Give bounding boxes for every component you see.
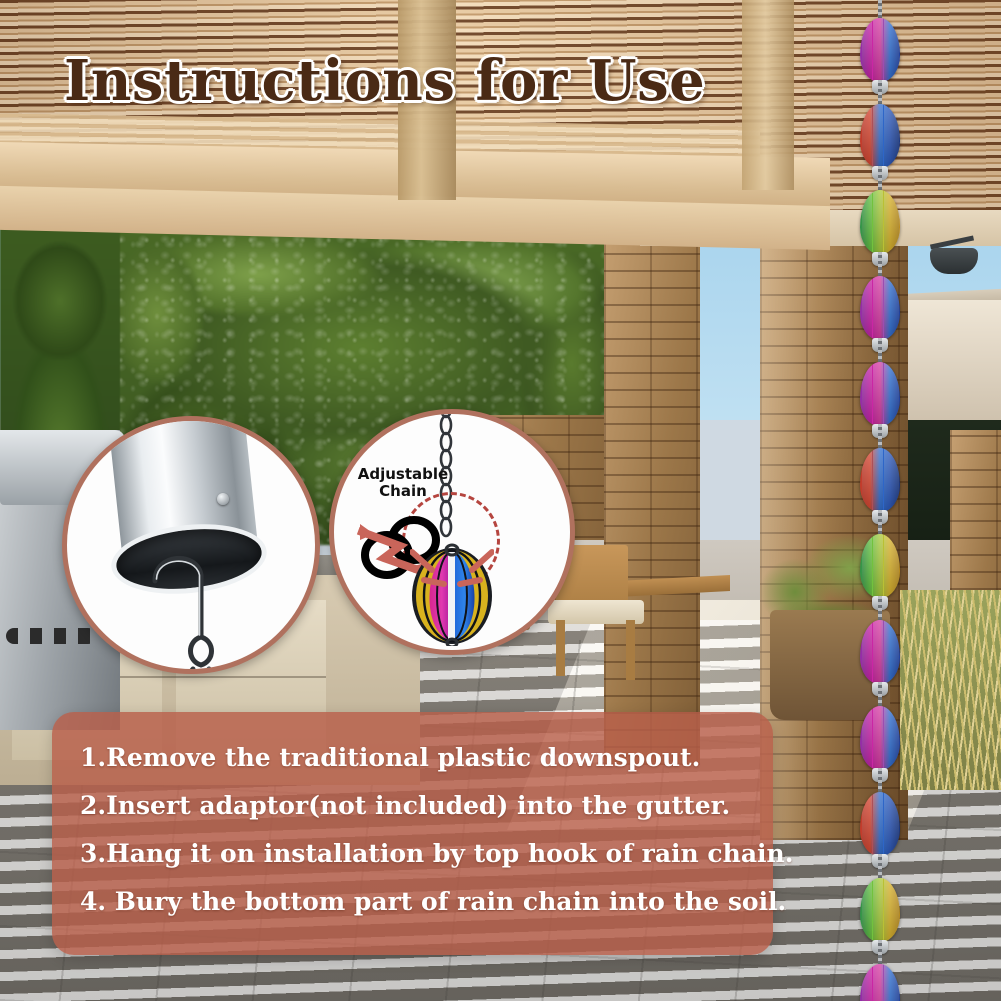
chain-spinner [857, 18, 903, 82]
spinner-rib [878, 706, 883, 770]
spinner-rib [878, 362, 883, 426]
spinner-rib [894, 792, 899, 856]
spinner-rib [862, 964, 867, 1001]
ornamental-grass [900, 590, 1001, 790]
spinner-rib [894, 620, 899, 684]
spinner-rib [878, 190, 883, 254]
spinner-rib [884, 276, 889, 340]
spinner-rib [862, 18, 867, 82]
chain-segment [878, 252, 882, 276]
callout-downspout [62, 416, 320, 674]
spinner-rib [889, 706, 894, 770]
spinner-rib [867, 706, 872, 770]
spinner-rib [878, 534, 883, 598]
spinner-rib [878, 792, 883, 856]
spinner-ball [860, 18, 900, 82]
spinner-rib [889, 104, 894, 168]
spinner-rib [867, 276, 872, 340]
spinner-rib [884, 190, 889, 254]
caption-line-1: Adjustable [342, 466, 464, 483]
spinner-rib [873, 276, 878, 340]
chain-segment [878, 510, 882, 534]
spinner-ball [860, 706, 900, 770]
spinner-rib [884, 534, 889, 598]
caption-line-2: Chain [342, 483, 464, 500]
spinner-rib [884, 792, 889, 856]
spinner-rib [873, 620, 878, 684]
spinner-rib [867, 190, 872, 254]
spinner-rib [884, 964, 889, 1001]
spinner-ball [860, 534, 900, 598]
chain-segment [878, 854, 882, 878]
spinner-rib [862, 362, 867, 426]
chain-spinner [857, 104, 903, 168]
spinner-rib [894, 448, 899, 512]
spinner-rib [867, 534, 872, 598]
spinner-rib [889, 190, 894, 254]
instruction-step: 4. Bury the bottom part of rain chain in… [80, 878, 759, 926]
spinner-rib [889, 792, 894, 856]
spinner-rib [878, 878, 883, 942]
chain-spinner [857, 534, 903, 598]
rain-chain [857, 0, 903, 1001]
spinner-ball [860, 276, 900, 340]
chain-segment [878, 596, 882, 620]
spinner-ball [860, 964, 900, 1001]
spinner-rib [884, 620, 889, 684]
page-title: Instructions for Use [64, 48, 705, 114]
spinner-rib [867, 18, 872, 82]
spinner-rib [878, 964, 883, 1001]
spinner-rib [894, 104, 899, 168]
chain-spinner [857, 362, 903, 426]
spinner-rib [867, 104, 872, 168]
instructions-panel: 1.Remove the traditional plastic downspo… [52, 712, 773, 955]
spinner-rib [889, 448, 894, 512]
distant-house [900, 300, 1001, 420]
spinner-rib [889, 18, 894, 82]
chain-segment [878, 80, 882, 104]
pergola-beam-right [742, 0, 794, 190]
spinner-rib [884, 362, 889, 426]
chain-spinner [857, 276, 903, 340]
chain-segment [878, 338, 882, 362]
spinner-rib [894, 276, 899, 340]
chain-spinner [857, 448, 903, 512]
spinner-rib [862, 448, 867, 512]
spinner-rib [867, 878, 872, 942]
chain-spinner [857, 964, 903, 1001]
chair-leg [626, 620, 635, 680]
spinner-rib [884, 104, 889, 168]
spinner-rib [873, 792, 878, 856]
chain-segment [878, 166, 882, 190]
chain-segment [878, 768, 882, 792]
chain-segment [878, 0, 882, 18]
downspout-screw [217, 493, 229, 505]
spinner-rib [878, 18, 883, 82]
grill-knobs [6, 628, 96, 644]
spinner-rib [862, 276, 867, 340]
spinner-rib [889, 362, 894, 426]
callout-adjustable-chain: Adjustable Chain [329, 409, 575, 655]
spinner-rib [873, 190, 878, 254]
spinner-ball [860, 620, 900, 684]
spinner-rib [894, 964, 899, 1001]
spinner-ball-illustration [410, 540, 494, 646]
patio-lamp-shade [930, 248, 978, 274]
spinner-rib [894, 18, 899, 82]
spinner-rib [873, 534, 878, 598]
instruction-step-list: 1.Remove the traditional plastic downspo… [80, 734, 759, 926]
chain-spinner [857, 878, 903, 942]
spinner-rib [862, 190, 867, 254]
stone-column-middle [604, 205, 700, 765]
spinner-rib [873, 878, 878, 942]
spinner-rib [862, 792, 867, 856]
spinner-rib [862, 878, 867, 942]
spinner-rib [894, 534, 899, 598]
spinner-rib [878, 104, 883, 168]
chain-spinner [857, 620, 903, 684]
spinner-rib [867, 362, 872, 426]
spinner-rib [884, 878, 889, 942]
spinner-rib [878, 448, 883, 512]
spinner-rib [889, 276, 894, 340]
spinner-rib [862, 620, 867, 684]
spinner-rib [878, 276, 883, 340]
spinner-rib [894, 878, 899, 942]
spinner-ball [860, 448, 900, 512]
spinner-rib [889, 878, 894, 942]
spinner-rib [884, 18, 889, 82]
spinner-rib [884, 448, 889, 512]
spinner-ball [860, 190, 900, 254]
instruction-step: 1.Remove the traditional plastic downspo… [80, 734, 759, 782]
spinner-rib [862, 534, 867, 598]
product-instruction-image: Instructions for Use [0, 0, 1001, 1001]
adjustable-chain-caption: Adjustable Chain [342, 466, 464, 500]
spinner-rib [873, 706, 878, 770]
spinner-rib [894, 190, 899, 254]
spinner-rib [889, 534, 894, 598]
spinner-rib [889, 620, 894, 684]
chain-spinner [857, 792, 903, 856]
chain-segment [878, 682, 882, 706]
s-hook-icon [141, 529, 261, 674]
spinner-rib [867, 448, 872, 512]
spinner-rib [873, 448, 878, 512]
spinner-ball [860, 878, 900, 942]
spinner-rib [873, 18, 878, 82]
spinner-ball [860, 792, 900, 856]
spinner-rib [889, 964, 894, 1001]
spinner-rib [867, 792, 872, 856]
chain-spinner [857, 190, 903, 254]
chain-segment [878, 424, 882, 448]
spinner-rib [873, 362, 878, 426]
spinner-rib [878, 620, 883, 684]
spinner-rib [862, 104, 867, 168]
spinner-rib [894, 706, 899, 770]
chain-spinner [857, 706, 903, 770]
spinner-rib [873, 104, 878, 168]
instruction-step: 3.Hang it on installation by top hook of… [80, 830, 759, 878]
chain-segment [878, 940, 882, 964]
chair-leg [556, 620, 565, 676]
spinner-rib [884, 706, 889, 770]
spinner-rib [894, 362, 899, 426]
spinner-rib [862, 706, 867, 770]
spinner-rib [867, 964, 872, 1001]
spinner-ball [860, 362, 900, 426]
spinner-rib [873, 964, 878, 1001]
spinner-rib [867, 620, 872, 684]
spinner-ball [860, 104, 900, 168]
instruction-step: 2.Insert adaptor(not included) into the … [80, 782, 759, 830]
